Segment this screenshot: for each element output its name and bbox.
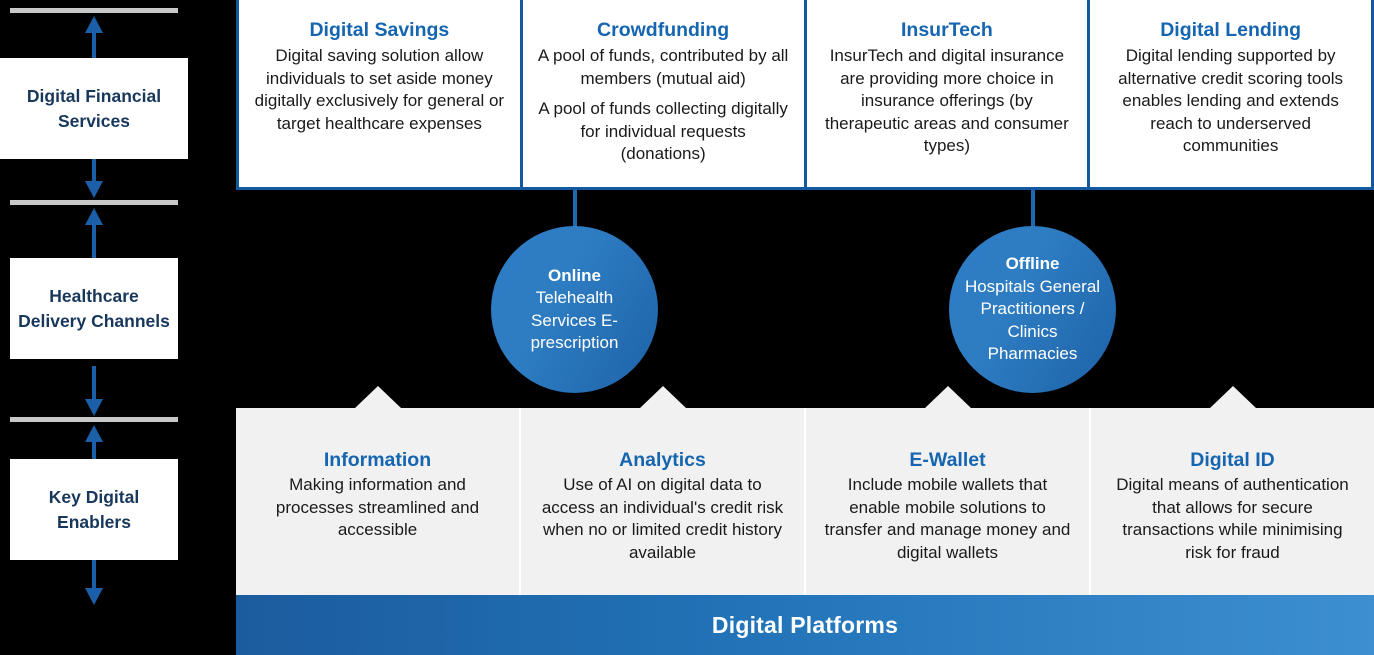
card-paragraph: Digital lending supported by alternative… bbox=[1104, 45, 1357, 158]
digital-platforms-bar[interactable]: Digital Platforms bbox=[236, 595, 1374, 655]
card-title: Information bbox=[252, 448, 503, 472]
digital-financial-services-row: Digital Savings Digital saving solution … bbox=[236, 0, 1374, 190]
healthcare-delivery-channels-band: Online Telehealth Services E-prescriptio… bbox=[236, 190, 1374, 408]
card-insurtech[interactable]: InsurTech InsurTech and digital insuranc… bbox=[807, 0, 1091, 187]
sidebar-divider-1 bbox=[10, 8, 178, 13]
up-arrow-notch-icon bbox=[1210, 386, 1256, 408]
sidebar: Digital Financial Services Healthcare De… bbox=[0, 0, 236, 655]
sidebar-divider-2 bbox=[10, 200, 178, 205]
arrow-down-icon-2 bbox=[82, 366, 106, 418]
circle-online-channel[interactable]: Online Telehealth Services E-prescriptio… bbox=[491, 226, 658, 393]
diagram-canvas: Digital Financial Services Healthcare De… bbox=[0, 0, 1374, 655]
card-body: Digital lending supported by alternative… bbox=[1104, 45, 1357, 158]
digital-platforms-label: Digital Platforms bbox=[712, 612, 898, 639]
sidebar-item-digital-financial-services[interactable]: Digital Financial Services bbox=[0, 58, 188, 159]
card-analytics[interactable]: Analytics Use of AI on digital data to a… bbox=[521, 408, 806, 595]
up-arrow-notch-icon bbox=[925, 386, 971, 408]
circle-detail: Telehealth Services E-prescription bbox=[531, 288, 619, 352]
card-digital-id[interactable]: Digital ID Digital means of authenticati… bbox=[1091, 408, 1374, 595]
up-arrow-notch-icon bbox=[640, 386, 686, 408]
circle-text: Online Telehealth Services E-prescriptio… bbox=[491, 265, 658, 355]
card-e-wallet[interactable]: E-Wallet Include mobile wallets that ena… bbox=[806, 408, 1091, 595]
circle-offline-channel[interactable]: Offline Hospitals General Practitioners … bbox=[949, 226, 1116, 393]
card-body: Digital saving solution allow individual… bbox=[253, 45, 506, 135]
sidebar-item-healthcare-delivery-channels[interactable]: Healthcare Delivery Channels bbox=[10, 258, 178, 359]
card-title: Digital ID bbox=[1107, 448, 1358, 472]
key-digital-enablers-row: Information Making information and proce… bbox=[236, 408, 1374, 595]
card-title: InsurTech bbox=[821, 18, 1074, 42]
card-title: E-Wallet bbox=[822, 448, 1073, 472]
sidebar-item-key-digital-enablers[interactable]: Key Digital Enablers bbox=[10, 459, 178, 560]
up-arrow-notch-icon bbox=[355, 386, 401, 408]
card-paragraph: Digital saving solution allow individual… bbox=[253, 45, 506, 135]
sidebar-item-label: Key Digital Enablers bbox=[16, 485, 172, 535]
card-paragraph: A pool of funds collecting digitally for… bbox=[537, 98, 790, 166]
card-title: Digital Savings bbox=[253, 18, 506, 42]
card-title: Crowdfunding bbox=[537, 18, 790, 42]
arrow-up-icon-2 bbox=[82, 206, 106, 258]
sidebar-item-label: Digital Financial Services bbox=[6, 84, 182, 134]
card-body: InsurTech and digital insurance are prov… bbox=[821, 45, 1074, 158]
card-information[interactable]: Information Making information and proce… bbox=[236, 408, 521, 595]
circle-text: Offline Hospitals General Practitioners … bbox=[949, 253, 1116, 366]
card-title: Digital Lending bbox=[1104, 18, 1357, 42]
circle-detail: Hospitals General Practitioners / Clinic… bbox=[965, 277, 1100, 364]
card-body: Digital means of authentication that all… bbox=[1107, 474, 1358, 564]
card-digital-lending[interactable]: Digital Lending Digital lending supporte… bbox=[1090, 0, 1371, 187]
card-digital-savings[interactable]: Digital Savings Digital saving solution … bbox=[239, 0, 523, 187]
card-paragraph: InsurTech and digital insurance are prov… bbox=[821, 45, 1074, 158]
card-body: A pool of funds, contributed by all memb… bbox=[537, 45, 790, 166]
card-title: Analytics bbox=[537, 448, 788, 472]
arrow-down-icon-3 bbox=[82, 555, 106, 607]
card-body: Making information and processes streaml… bbox=[252, 474, 503, 542]
card-body: Include mobile wallets that enable mobil… bbox=[822, 474, 1073, 564]
card-body: Use of AI on digital data to access an i… bbox=[537, 474, 788, 564]
circle-heading: Offline bbox=[963, 253, 1102, 276]
card-paragraph: A pool of funds, contributed by all memb… bbox=[537, 45, 790, 90]
sidebar-item-label: Healthcare Delivery Channels bbox=[16, 284, 172, 334]
circle-heading: Online bbox=[505, 265, 644, 288]
card-crowdfunding[interactable]: Crowdfunding A pool of funds, contribute… bbox=[523, 0, 807, 187]
